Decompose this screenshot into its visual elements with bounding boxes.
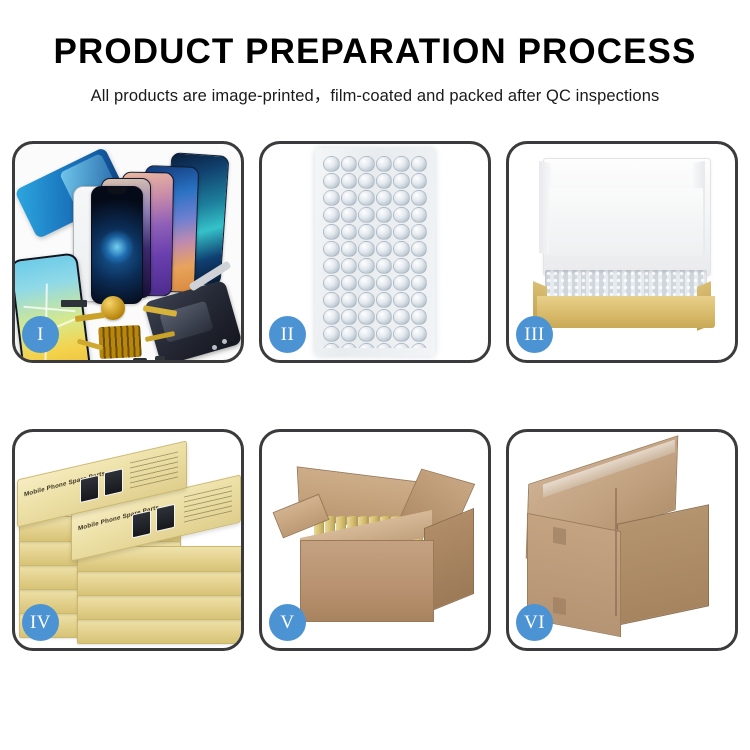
process-steps-grid: I xyxy=(12,141,738,673)
step-panel-5: V xyxy=(259,429,491,651)
step-badge-2: II xyxy=(269,316,306,353)
bubble-grid xyxy=(323,156,427,348)
carton-tab-icon xyxy=(553,597,566,616)
box-artwork-icon xyxy=(104,468,123,496)
carton-edge-seam xyxy=(615,488,617,616)
box-spec-lines-icon xyxy=(130,451,178,488)
box-artwork-icon xyxy=(132,510,151,538)
step-panel-3: III xyxy=(506,141,738,363)
box-spec-lines-icon xyxy=(184,485,232,522)
kraft-box-icon xyxy=(77,570,241,596)
kraft-tray-front-icon xyxy=(537,296,715,328)
carton-tab-icon xyxy=(553,527,566,546)
step-badge-6: VI xyxy=(516,604,553,641)
carton-side-panel-icon xyxy=(617,504,709,626)
small-component-icon xyxy=(61,300,87,307)
wallpaper-glow-icon xyxy=(100,230,134,264)
step-panel-1: I xyxy=(12,141,244,363)
carton-front-panel-icon xyxy=(300,540,434,622)
small-component-icon xyxy=(155,356,165,360)
header: PRODUCT PREPARATION PROCESS All products… xyxy=(0,34,750,106)
step-panel-6: VI xyxy=(506,429,738,651)
phone-display-icon xyxy=(91,186,143,304)
bubble-wrap-icon xyxy=(315,148,435,356)
phone-notch-icon xyxy=(107,187,127,194)
step-panel-2: II xyxy=(259,141,491,363)
step-panel-4: Mobile Phone Spare Parts Mobile Phone Sp… xyxy=(12,429,244,651)
small-component-icon xyxy=(133,358,147,360)
step-badge-4: IV xyxy=(22,604,59,641)
product-preparation-infographic: PRODUCT PREPARATION PROCESS All products… xyxy=(0,0,750,750)
step-badge-1: I xyxy=(22,316,59,353)
kraft-box-icon xyxy=(77,594,241,620)
kraft-box-icon xyxy=(77,618,241,644)
screw-icon xyxy=(212,345,217,350)
step-badge-5: V xyxy=(269,604,306,641)
box-artwork-icon xyxy=(80,475,99,503)
screw-icon xyxy=(222,339,227,344)
step-badge-3: III xyxy=(516,316,553,353)
chip-array-icon xyxy=(98,325,142,359)
page-subtitle: All products are image-printed，film-coat… xyxy=(0,82,750,106)
page-title: PRODUCT PREPARATION PROCESS xyxy=(0,34,750,69)
box-artwork-icon xyxy=(156,504,175,532)
foam-insert-icon xyxy=(549,188,703,256)
